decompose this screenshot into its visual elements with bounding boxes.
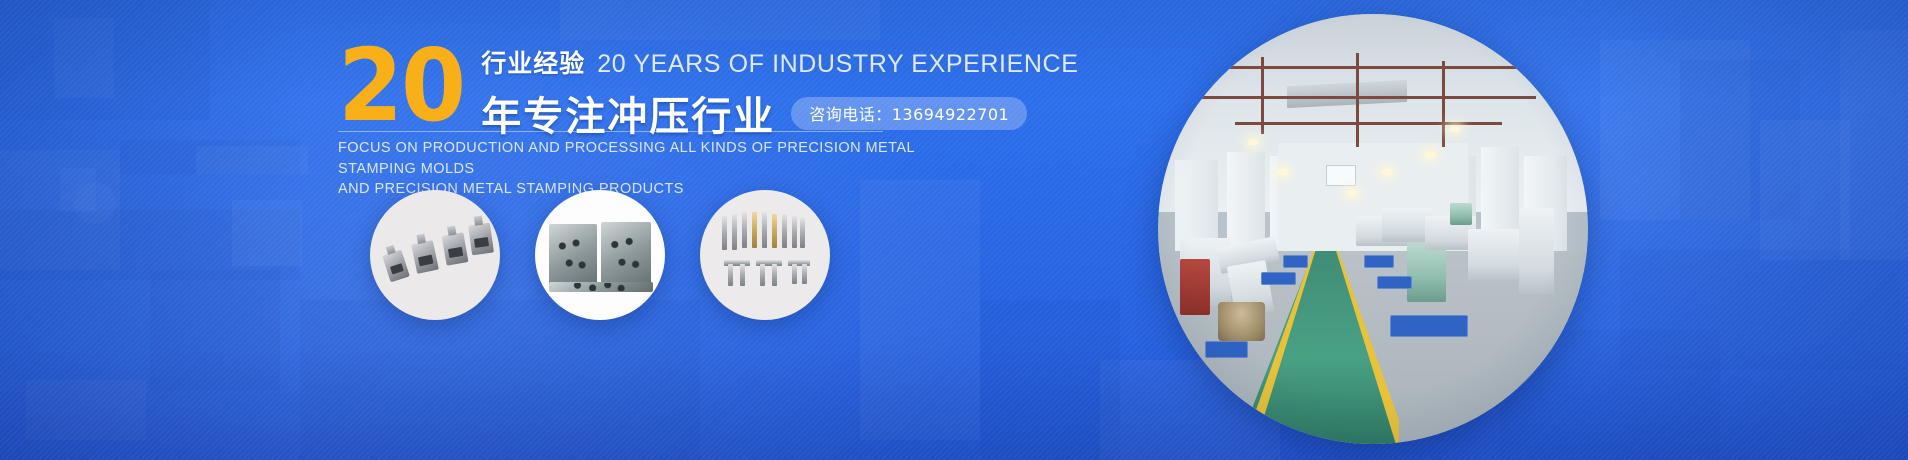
factory-workshop-photo[interactable] <box>1158 14 1588 444</box>
headline-cn-large: 年专注冲压行业 <box>481 84 775 142</box>
product-circle-usb-connector-parts[interactable] <box>370 190 500 320</box>
headline-block: 20 行业经验 20 YEARS OF INDUSTRY EXPERIENCE … <box>338 38 1098 142</box>
subtitle-line-1: FOCUS ON PRODUCTION AND PROCESSING ALL K… <box>338 138 958 179</box>
headline-en: 20 YEARS OF INDUSTRY EXPERIENCE <box>597 50 1078 79</box>
divider-line <box>338 131 883 132</box>
years-number: 20 <box>338 40 464 132</box>
promo-banner: 20 行业经验 20 YEARS OF INDUSTRY EXPERIENCE … <box>0 0 1908 460</box>
phone-badge[interactable]: 咨询电话：13694922701 <box>791 97 1027 130</box>
headline-cn-small: 行业经验 <box>481 44 585 80</box>
product-circle-metal-terminal-pins[interactable] <box>700 190 830 320</box>
product-circle-progressive-stamping-die[interactable] <box>535 190 665 320</box>
